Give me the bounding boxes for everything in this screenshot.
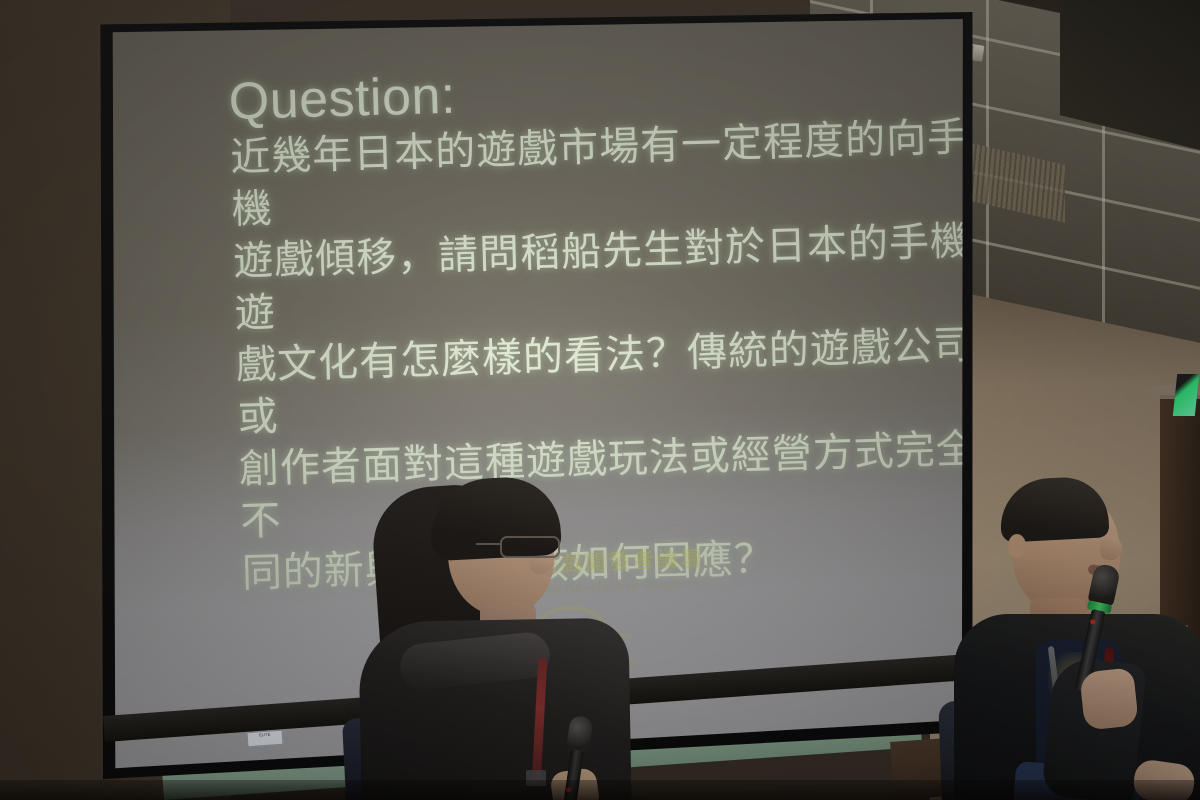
person-moderator[interactable]	[330, 470, 650, 800]
speaker-nose	[1100, 536, 1122, 560]
screen-brand-label: ELITE	[247, 730, 284, 748]
speaker-hand-holding-microphone	[1079, 667, 1139, 730]
speaker-ear	[1008, 534, 1026, 558]
person-speaker[interactable]	[960, 470, 1200, 800]
speaker-hair	[998, 475, 1109, 543]
conference-photo-scene: Question: 近幾年日本的遊戲市場有一定程度的向手機 遊戲傾移，請問稻船先…	[0, 0, 1200, 800]
exit-sign-icon	[1173, 374, 1199, 416]
moderator-eyeglasses	[500, 536, 560, 558]
foreground-shadow	[0, 780, 1200, 800]
